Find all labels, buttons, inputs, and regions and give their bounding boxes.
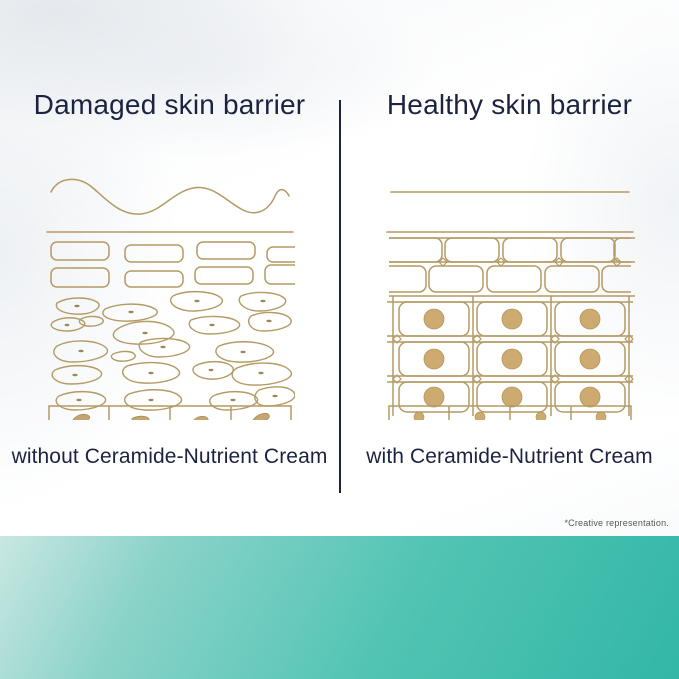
irregular-corneocyte-group (51, 292, 295, 410)
damaged-panel-caption: without Ceramide-Nutrient Cream (0, 443, 339, 471)
flake-nuclei (64, 300, 277, 401)
damaged-skin-barrier-diagram (0, 170, 339, 420)
teal-gradient-band (0, 536, 679, 679)
damaged-panel-title: Damaged skin barrier (0, 88, 339, 122)
healthy-panel-title: Healthy skin barrier (340, 88, 679, 122)
damaged-skin-panel: Damaged skin barrier (0, 0, 339, 520)
brick-row-lower (51, 265, 295, 287)
healthy-panel-caption: with Ceramide-Nutrient Cream (340, 443, 679, 471)
healthy-skin-barrier-diagram (340, 170, 679, 420)
wavy-surface-line (51, 179, 289, 214)
brick-row-upper (51, 242, 295, 262)
interlocked-brick-grid (389, 238, 635, 296)
basal-layer-row (389, 406, 631, 420)
basal-layer-row (49, 406, 291, 420)
basal-flecks (72, 413, 268, 420)
ceramide-lipid-dots (424, 309, 600, 407)
healthy-skin-panel: Healthy skin barrier (340, 0, 679, 520)
creative-representation-disclaimer: *Creative representation. (564, 518, 669, 528)
skincare-comparison-infographic: Damaged skin barrier (0, 0, 679, 679)
